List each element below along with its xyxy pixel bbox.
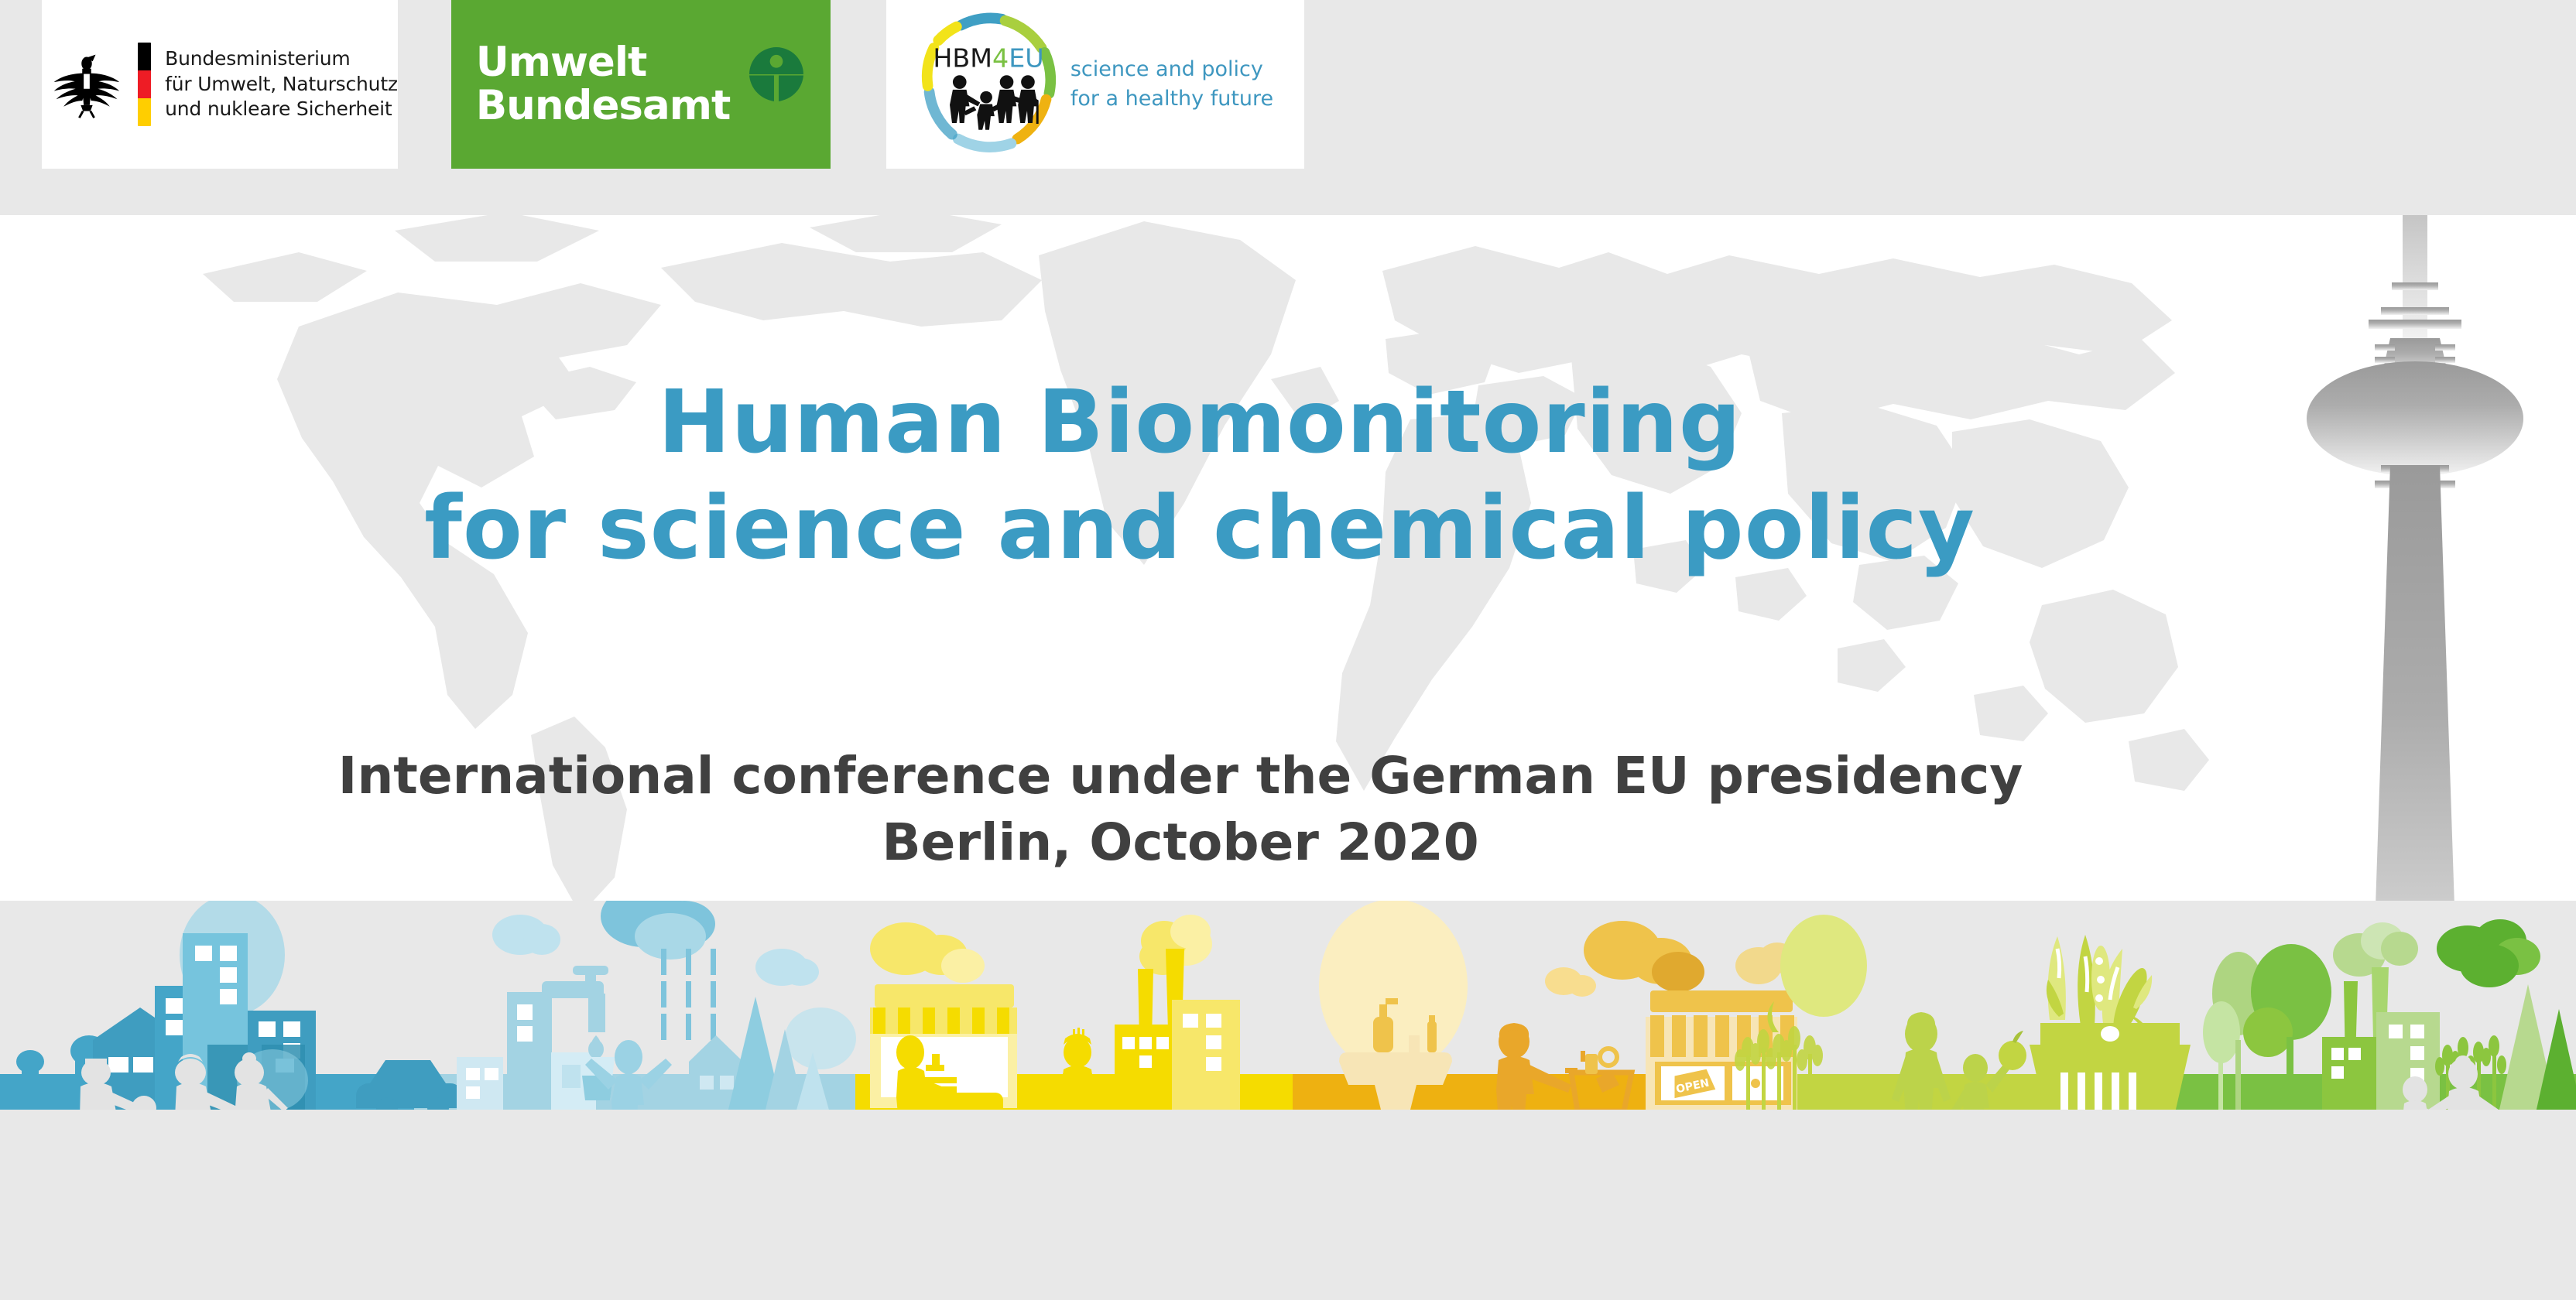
apple-icon [1999, 1031, 2026, 1070]
title-line-2: for science and chemical policy [0, 476, 2400, 582]
bmu-logo-text: Bundesministerium für Umwelt, Naturschut… [165, 46, 398, 122]
bmu-logo: Bundesministerium für Umwelt, Naturschut… [42, 0, 398, 169]
hbm-tagline-2: for a healthy future [1070, 84, 1273, 114]
scene-drinking-water [457, 901, 830, 1141]
hbm4eu-logo: HBM4EU [886, 0, 1304, 169]
rain-drops [661, 949, 716, 1040]
bmu-line-3: und nukleare Sicherheit [165, 97, 398, 122]
scene-industry-food [870, 915, 1240, 1139]
page-subtitle: International conference under the Germa… [0, 743, 2361, 876]
hbm-wordmark-4: 4 [992, 43, 1009, 73]
subtitle-line-2: Berlin, October 2020 [0, 809, 2361, 876]
conference-title-slide: Bundesministerium für Umwelt, Naturschut… [0, 0, 2576, 1300]
uba-line-2: Bundesamt [476, 84, 731, 128]
logo-header-band: Bundesministerium für Umwelt, Naturschut… [0, 0, 2576, 215]
hero-section: Human Biomonitoring for science and chem… [0, 215, 2576, 901]
page-title: Human Biomonitoring for science and chem… [0, 370, 2400, 581]
german-flag-bar-icon [138, 43, 151, 126]
uba-person-mark-icon [747, 45, 806, 104]
title-line-1: Human Biomonitoring [0, 370, 2400, 476]
federal-eagle-icon [50, 47, 124, 121]
bmu-line-1: Bundesministerium [165, 46, 398, 72]
bmu-line-2: für Umwelt, Naturschutz [165, 72, 398, 97]
hbm-tagline-1: science and policy [1070, 55, 1273, 84]
uba-line-1: Umwelt [476, 41, 731, 84]
footer-gray-area [0, 1110, 2576, 1300]
uba-logo-text: Umwelt Bundesamt [476, 41, 731, 128]
umweltbundesamt-logo: Umwelt Bundesamt [451, 0, 831, 169]
svg-text:HBM4EU: HBM4EU [933, 43, 1043, 73]
hbm-wordmark-eu: EU [1009, 43, 1043, 73]
factory [1115, 915, 1240, 1113]
hbm-family-figures-icon [950, 75, 1039, 130]
subtitle-line-1: International conference under the Germa… [0, 743, 2361, 809]
hbm4eu-ring-and-family-icon: HBM4EU [913, 9, 1064, 160]
hbm4eu-tagline: science and policy for a healthy future [1070, 55, 1273, 115]
vegetable-basket [2030, 935, 2191, 1113]
hbm-wordmark-hbm: HBM [933, 43, 992, 73]
